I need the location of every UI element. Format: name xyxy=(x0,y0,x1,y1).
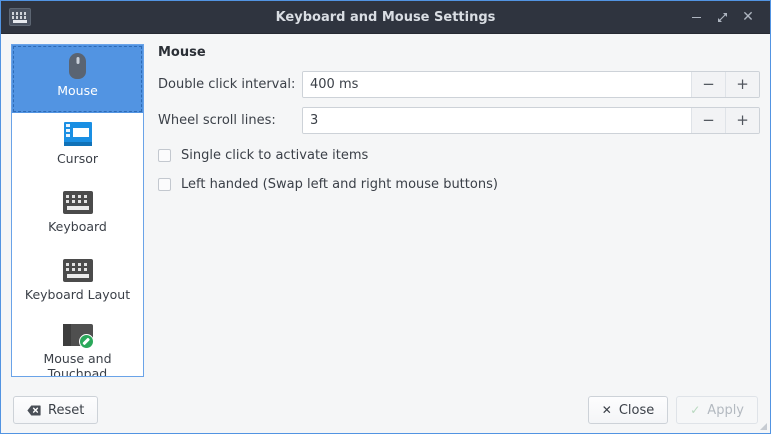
check-icon: ✓ xyxy=(690,403,700,417)
single-click-checkbox[interactable] xyxy=(158,149,171,162)
left-handed-checkbox[interactable] xyxy=(158,178,171,191)
keyboard-icon xyxy=(9,8,31,26)
maximize-button[interactable] xyxy=(710,5,734,29)
left-handed-row[interactable]: Left handed (Swap left and right mouse b… xyxy=(158,177,760,192)
sidebar-item-label: Cursor xyxy=(57,152,98,166)
sidebar-item-label: Mouse xyxy=(57,84,98,98)
wheel-scroll-lines-row: Wheel scroll lines: 3 − + xyxy=(158,107,760,134)
reset-button[interactable]: Reset xyxy=(13,396,98,424)
window-title: Keyboard and Mouse Settings xyxy=(1,10,770,25)
page-title: Mouse xyxy=(158,45,760,60)
single-click-label: Single click to activate items xyxy=(181,148,368,163)
sidebar-item-label: Mouse and Touchpad xyxy=(14,352,141,377)
close-window-button[interactable]: ✕ xyxy=(736,5,760,29)
double-click-interval-row: Double click interval: 400 ms − + xyxy=(158,71,760,98)
close-button-label: Close xyxy=(619,403,654,418)
double-click-interval-input[interactable]: 400 ms xyxy=(303,72,691,97)
wheel-scroll-lines-increment[interactable]: + xyxy=(725,108,759,133)
touchpad-icon xyxy=(61,323,95,349)
reset-button-label: Reset xyxy=(48,403,84,418)
apply-button[interactable]: ✓ Apply xyxy=(676,396,758,424)
minimize-button[interactable] xyxy=(684,5,708,29)
sidebar-item-mouse[interactable]: Mouse xyxy=(12,45,143,113)
wheel-scroll-lines-stepper[interactable]: 3 − + xyxy=(302,107,760,134)
left-handed-label: Left handed (Swap left and right mouse b… xyxy=(181,177,498,192)
mouse-settings-pane: Mouse Double click interval: 400 ms − + … xyxy=(144,44,760,377)
keyboard-icon xyxy=(61,187,95,217)
sidebar-item-cursor[interactable]: Cursor xyxy=(12,113,143,181)
window-controls: ✕ xyxy=(684,5,770,29)
wheel-scroll-lines-label: Wheel scroll lines: xyxy=(158,113,302,128)
single-click-row[interactable]: Single click to activate items xyxy=(158,148,760,163)
sidebar-item-label: Keyboard xyxy=(48,220,107,234)
close-button[interactable]: ✕ Close xyxy=(588,396,668,424)
sidebar-item-mouse-and-touchpad[interactable]: Mouse and Touchpad xyxy=(12,317,143,377)
settings-category-list[interactable]: Mouse Cursor Keyboard xyxy=(11,44,144,377)
sidebar-item-keyboard[interactable]: Keyboard xyxy=(12,181,143,249)
sidebar-item-keyboard-layout[interactable]: Keyboard Layout xyxy=(12,249,143,317)
maximize-icon xyxy=(717,12,728,23)
titlebar[interactable]: Keyboard and Mouse Settings ✕ xyxy=(1,1,770,34)
content-area: Mouse Cursor Keyboard xyxy=(1,34,770,387)
wheel-scroll-lines-input[interactable]: 3 xyxy=(303,108,691,133)
double-click-interval-label: Double click interval: xyxy=(158,77,302,92)
cursor-icon xyxy=(61,119,95,149)
apply-button-label: Apply xyxy=(707,403,744,418)
close-icon: ✕ xyxy=(602,403,612,417)
keyboard-layout-icon xyxy=(61,255,95,285)
double-click-interval-decrement[interactable]: − xyxy=(691,72,725,97)
settings-window: Keyboard and Mouse Settings ✕ Mouse xyxy=(0,0,771,434)
double-click-interval-increment[interactable]: + xyxy=(725,72,759,97)
double-click-interval-stepper[interactable]: 400 ms − + xyxy=(302,71,760,98)
wheel-scroll-lines-decrement[interactable]: − xyxy=(691,108,725,133)
footer-actions: ✕ Close ✓ Apply xyxy=(588,396,758,424)
mouse-icon xyxy=(61,51,95,81)
reset-icon xyxy=(27,405,41,416)
dialog-button-bar: Reset ✕ Close ✓ Apply xyxy=(1,387,770,433)
sidebar-item-label: Keyboard Layout xyxy=(25,288,130,302)
